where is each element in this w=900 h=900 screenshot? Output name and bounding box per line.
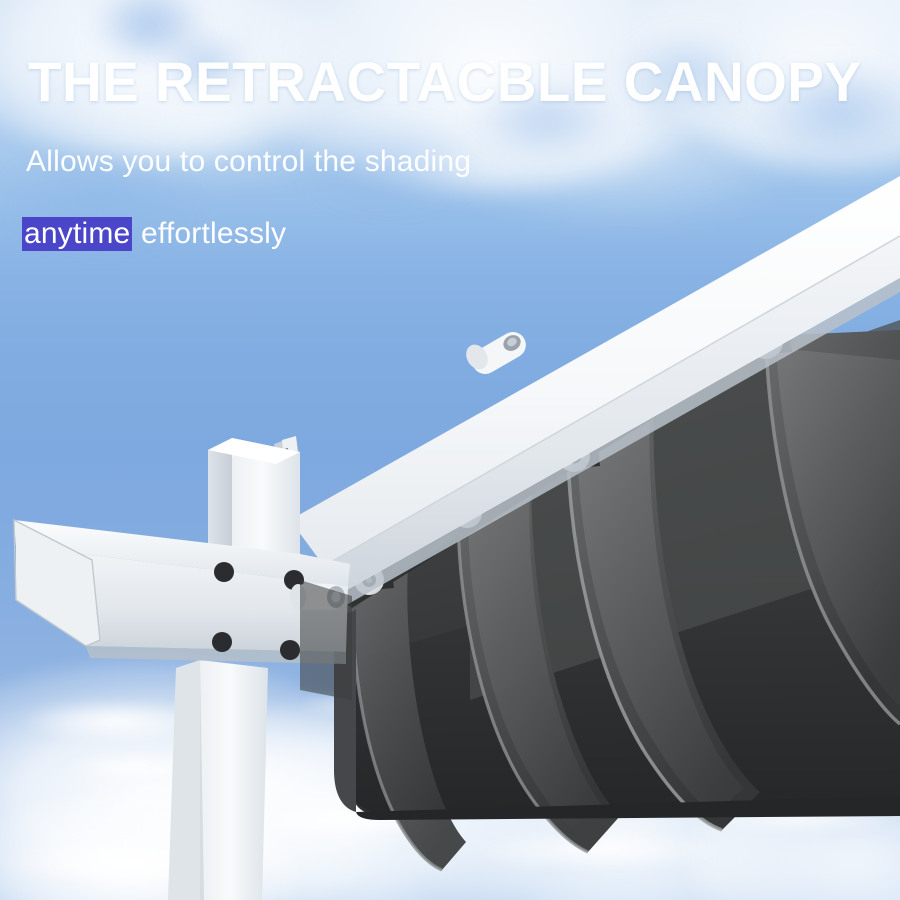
subtitle-line-2: anytime effortlessly [22,216,286,252]
page-title: THE RETRACTACBLE CANOPY [28,54,861,110]
fabric-post-shadow [300,580,352,700]
pergola-post [168,438,300,900]
selected-text-anytime[interactable]: anytime [22,217,132,251]
pergola-illustration [0,0,900,900]
promo-banner: THE RETRACTACBLE CANOPY Allows you to co… [0,0,900,900]
bracket-bolt [214,562,234,582]
bracket-bolt [280,640,300,660]
post-lower-front [200,660,268,900]
subtitle-line-1: Allows you to control the shading [26,144,471,180]
subtitle-line-2-rest: effortlessly [132,217,286,250]
beam-locking-pin [462,327,531,379]
bracket-bolt [212,632,232,652]
post-lower-side [168,660,200,900]
